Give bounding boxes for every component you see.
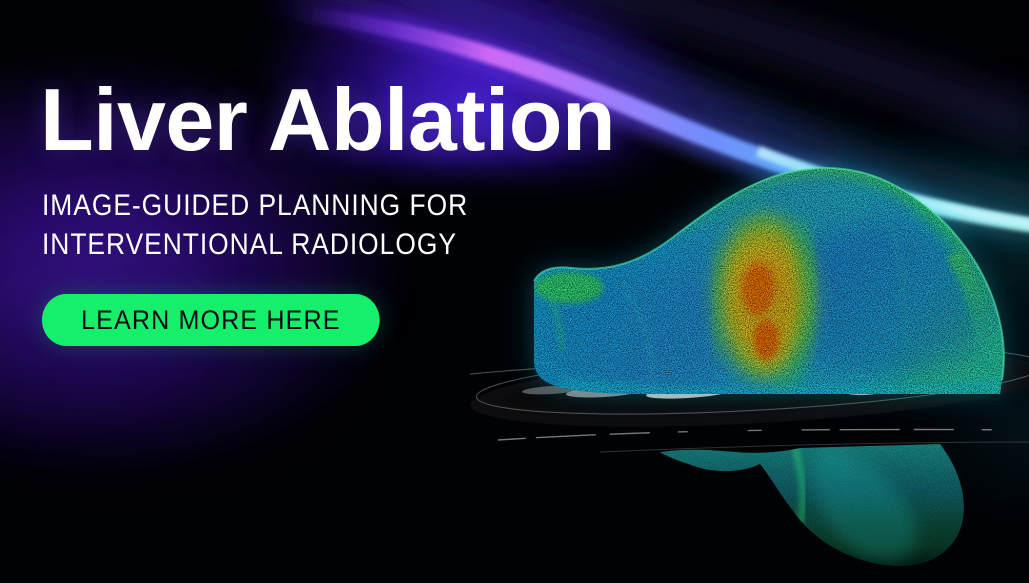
banner-content: Liver Ablation IMAGE-GUIDED PLANNING FOR… [40, 76, 660, 346]
page-title: Liver Ablation [40, 76, 660, 164]
slice-plane-mirror-line [498, 429, 1029, 452]
liver-reflection [620, 430, 1020, 580]
page-subtitle: IMAGE-GUIDED PLANNING FOR INTERVENTIONAL… [42, 186, 586, 264]
liver-ablation-banner: Liver Ablation IMAGE-GUIDED PLANNING FOR… [0, 0, 1029, 583]
learn-more-button[interactable]: LEARN MORE HERE [42, 294, 380, 346]
